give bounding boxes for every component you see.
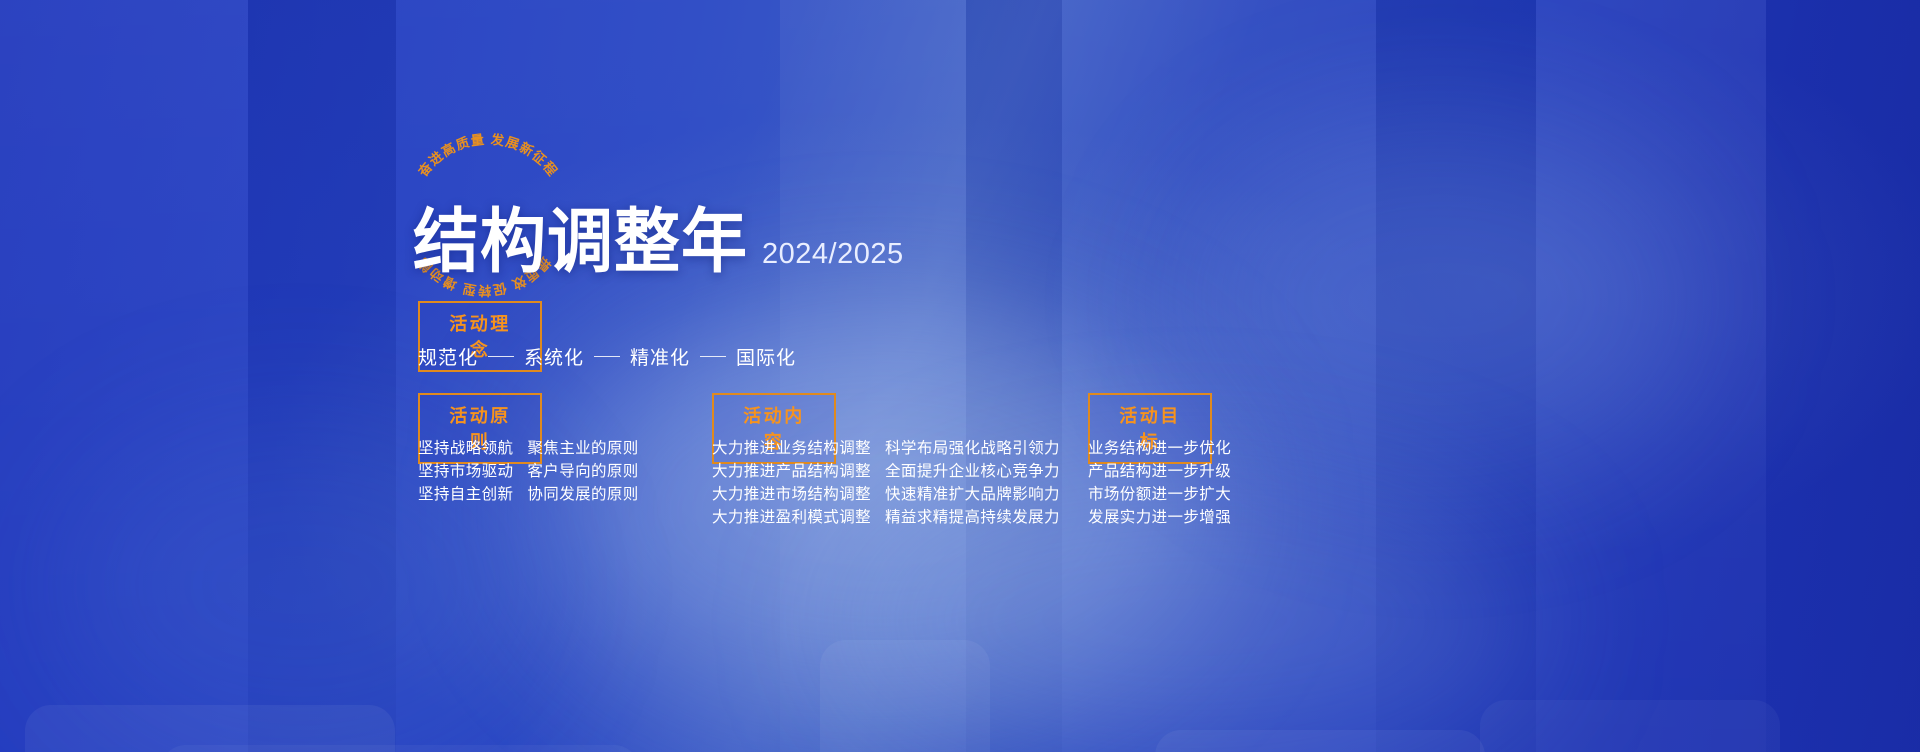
keyword-item: 国际化 [736,343,796,370]
list-item: 产品结构进一步升级 [1088,460,1231,483]
list-item: 大力推进盈利模式调整精益求精提高持续发展力 [712,506,1060,529]
year-range: 2024/2025 [762,238,904,277]
keyword-separator [594,356,620,358]
title-block: 结构调整年 2024/2025 [413,211,904,277]
list-item-primary: 市场份额进一步扩大 [1088,483,1231,506]
list-item: 大力推进业务结构调整科学布局强化战略引领力 [712,437,1060,460]
list-item-primary: 坚持自主创新 [418,483,513,506]
list-item-primary: 大力推进业务结构调整 [712,437,871,460]
list-item-secondary: 协同发展的原则 [527,483,638,506]
list-item-primary: 坚持市场驱动 [418,460,513,483]
list-item: 业务结构进一步优化 [1088,437,1231,460]
list-item-primary: 大力推进盈利模式调整 [712,506,871,529]
list-item: 大力推进市场结构调整快速精准扩大品牌影响力 [712,483,1060,506]
ring-text-top: 奋进高质量 发展新征程 [414,131,561,180]
list-item-secondary: 全面提升企业核心竞争力 [885,460,1060,483]
keyword-separator [700,356,726,358]
list-item-primary: 大力推进市场结构调整 [712,483,871,506]
list-item: 坚持战略领航聚焦主业的原则 [418,437,639,460]
list-item: 市场份额进一步扩大 [1088,483,1231,506]
list-item-primary: 坚持战略领航 [418,437,513,460]
principles-column: 坚持战略领航聚焦主业的原则坚持市场驱动客户导向的原则坚持自主创新协同发展的原则 [418,437,639,506]
ring-text-top-path: 奋进高质量 发展新征程 [414,131,561,180]
list-item-primary: 发展实力进一步增强 [1088,506,1231,529]
page-title: 结构调整年 [413,207,748,277]
list-item-secondary: 快速精准扩大品牌影响力 [885,483,1060,506]
list-item: 大力推进产品结构调整全面提升企业核心竞争力 [712,460,1060,483]
contents-column: 大力推进业务结构调整科学布局强化战略引领力大力推进产品结构调整全面提升企业核心竞… [712,437,1060,529]
list-item-secondary: 聚焦主业的原则 [527,437,638,460]
list-item-secondary: 科学布局强化战略引领力 [885,437,1060,460]
keyword-item: 系统化 [524,343,584,370]
keyword-list: 规范化系统化精准化国际化 [418,343,796,370]
list-item: 坚持市场驱动客户导向的原则 [418,460,639,483]
list-item-primary: 产品结构进一步升级 [1088,460,1231,483]
goals-column: 业务结构进一步优化产品结构进一步升级市场份额进一步扩大发展实力进一步增强 [1088,437,1231,529]
list-item: 坚持自主创新协同发展的原则 [418,483,639,506]
list-item-secondary: 客户导向的原则 [527,460,638,483]
list-item-primary: 业务结构进一步优化 [1088,437,1231,460]
list-item: 发展实力进一步增强 [1088,506,1231,529]
list-item-secondary: 精益求精提高持续发展力 [885,506,1060,529]
keyword-separator [488,356,514,358]
keyword-item: 规范化 [418,343,478,370]
list-item-primary: 大力推进产品结构调整 [712,460,871,483]
keyword-item: 精准化 [630,343,690,370]
